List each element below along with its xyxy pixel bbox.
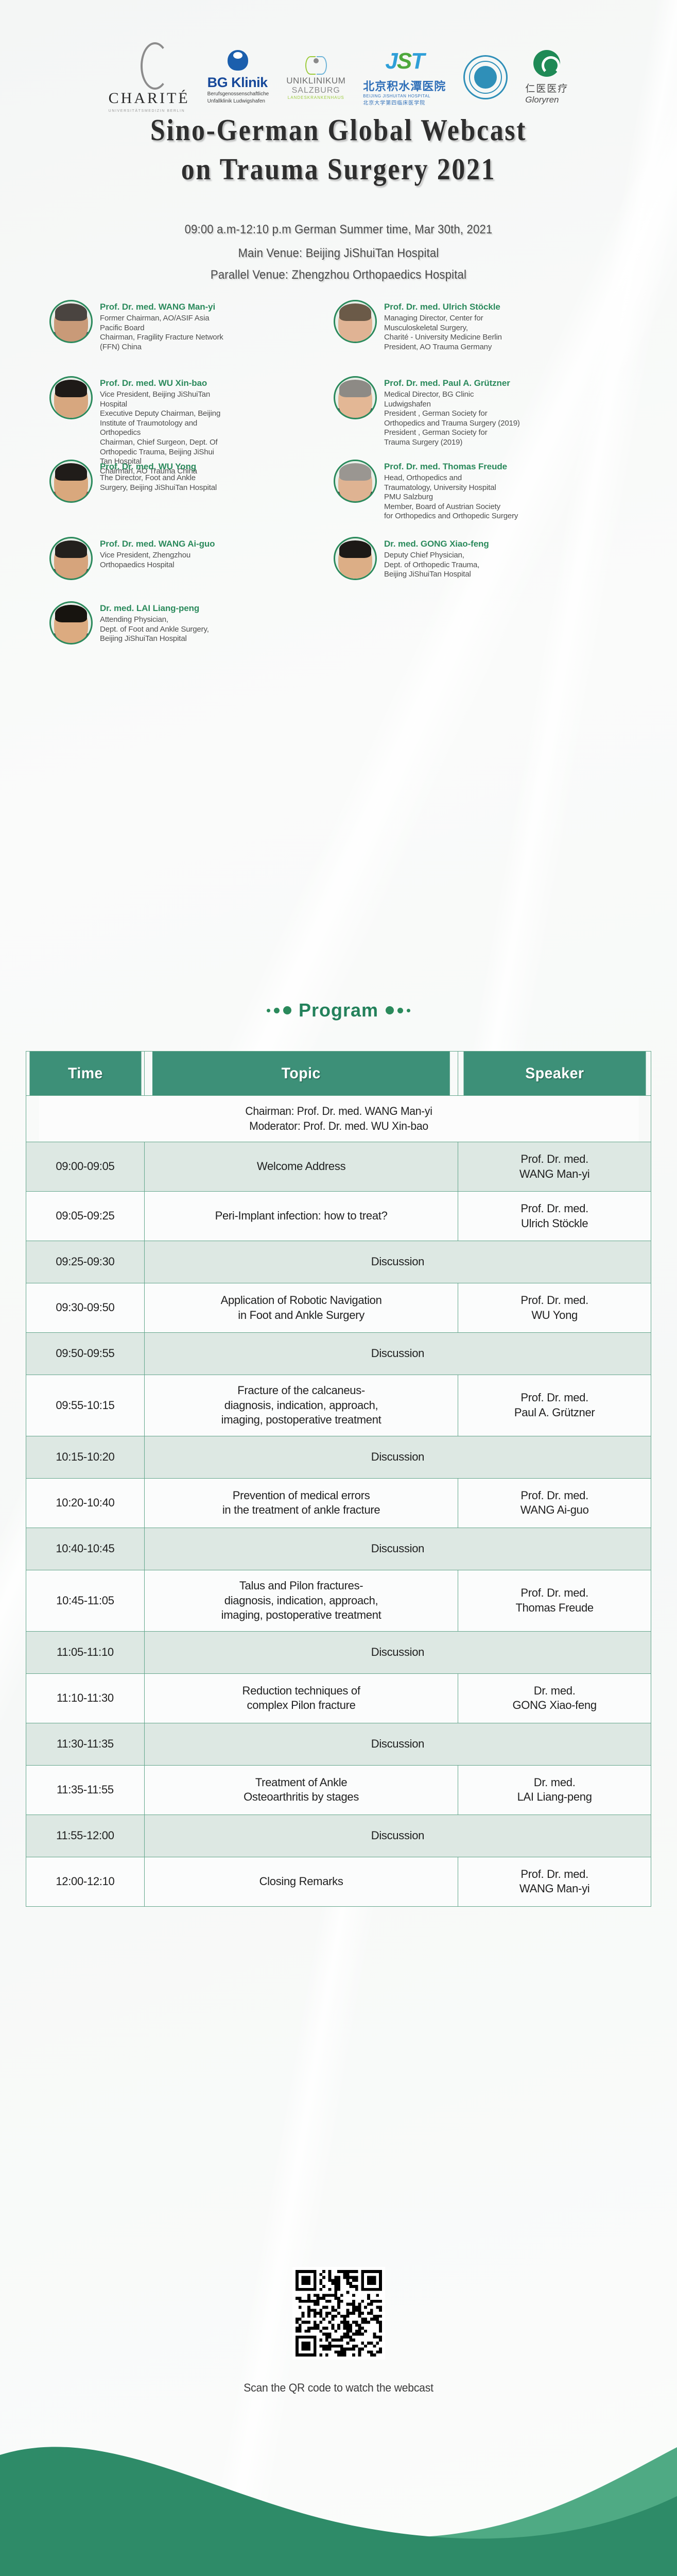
- speaker-affiliation-line: Chairman, Fragility Fracture Network: [100, 333, 223, 343]
- speaker-affiliation-line: for Orthopedics and Orthopedic Surgery: [384, 512, 518, 521]
- speaker-name: Dr. med. GONG Xiao-feng: [384, 539, 489, 549]
- cell-topic: Application of Robotic Navigationin Foot…: [144, 1283, 458, 1333]
- speaker-row: Dr. med. LAI Liang-pengAttending Physici…: [0, 594, 677, 645]
- speaker-info: Dr. med. GONG Xiao-fengDeputy Chief Phys…: [384, 537, 489, 580]
- salzburg-figure-icon: [304, 55, 328, 76]
- cell-speaker: Prof. Dr. med.WANG Man-yi: [458, 1142, 651, 1192]
- speaker-affiliation-line: Pacific Board: [100, 324, 223, 333]
- cell-speaker: Dr. med.GONG Xiao-feng: [458, 1673, 651, 1723]
- charite-logo: CHARITÉ UNIVERSITÄTSMEDIZIN BERLIN: [109, 42, 190, 113]
- speaker-row: Prof. Dr. med. WANG Man-yiFormer Chairma…: [0, 293, 677, 352]
- table-row: 11:55-12:00Discussion: [26, 1815, 651, 1857]
- speaker-affiliation-line: Orthopaedics Hospital: [100, 561, 215, 570]
- speaker-affiliation-line: Head, Orthopedics and: [384, 473, 518, 483]
- title-line-2: on Trauma Surgery 2021: [41, 150, 636, 189]
- speaker-affiliation-line: Hospital: [100, 400, 220, 410]
- column-header-speaker: Speaker: [463, 1052, 646, 1096]
- cell-topic: Discussion: [144, 1723, 651, 1765]
- program-heading-label: Program: [299, 999, 378, 1021]
- table-row: 12:00-12:10Closing RemarksProf. Dr. med.…: [26, 1857, 651, 1906]
- table-row: 10:20-10:40Prevention of medical errorsi…: [26, 1478, 651, 1528]
- speaker-name: Dr. med. LAI Liang-peng: [100, 603, 209, 614]
- chairman-row: Chairman: Prof. Dr. med. WANG Man-yiMode…: [26, 1096, 651, 1142]
- qr-caption: Scan the QR code to watch the webcast: [13, 2381, 663, 2395]
- cell-topic: Peri-Implant infection: how to treat?: [144, 1192, 458, 1241]
- left-dots-icon: [267, 1006, 291, 1014]
- bg-klinik-logo-text: BG Klinik: [207, 75, 269, 91]
- right-dots-icon: [386, 1006, 410, 1014]
- speaker-affiliation-line: Institute of Traumotology and: [100, 419, 220, 429]
- cell-topic: Welcome Address: [144, 1142, 458, 1192]
- speaker-info: Prof. Dr. med. WANG Ai-guoVice President…: [100, 537, 215, 570]
- speaker-card: Prof. Dr. med. Ulrich StöckleManaging Di…: [309, 293, 677, 352]
- speaker-affiliation-line: Medical Director, BG Clinic: [384, 390, 520, 400]
- cell-topic: Prevention of medical errorsin the treat…: [144, 1478, 458, 1528]
- table-row: 11:30-11:35Discussion: [26, 1723, 651, 1765]
- speaker-affiliation-line: Orthopedics: [100, 428, 220, 438]
- speaker-affiliation-line: Chairman, Chief Surgeon, Dept. Of: [100, 438, 220, 448]
- table-header-row: Time Topic Speaker: [26, 1052, 651, 1096]
- speaker-affiliation-line: Charité - University Medicine Berlin: [384, 333, 502, 343]
- cell-time: 09:55-10:15: [26, 1375, 145, 1436]
- speaker-name: Prof. Dr. med. Thomas Freude: [384, 462, 518, 472]
- sponsor-logo-strip: CHARITÉ UNIVERSITÄTSMEDIZIN BERLIN BG Kl…: [0, 46, 677, 108]
- speaker-info: Prof. Dr. med. Paul A. GrütznerMedical D…: [384, 376, 520, 448]
- qr-code[interactable]: [292, 2267, 385, 2360]
- cell-time: 12:00-12:10: [26, 1857, 145, 1906]
- table-row: 10:40-10:45Discussion: [26, 1528, 651, 1570]
- avatar: [334, 300, 377, 343]
- cell-time: 10:40-10:45: [26, 1528, 145, 1570]
- gloryren-logo: 仁医医疗 Gloryren: [525, 50, 568, 105]
- bg-klinik-sub2: Unfallklinik Ludwigshafen: [207, 98, 269, 105]
- cell-speaker: Dr. med.LAI Liang-peng: [458, 1765, 651, 1815]
- jishuitan-en-name: BEIJING JISHUITAN HOSPITAL: [363, 94, 430, 98]
- avatar: [49, 460, 93, 503]
- speaker-info: Prof. Dr. med. WU YongThe Director, Foot…: [100, 460, 217, 493]
- program-table-body: Chairman: Prof. Dr. med. WANG Man-yiMode…: [26, 1096, 651, 1907]
- speaker-affiliation-line: President, AO Trauma Germany: [384, 343, 502, 352]
- charite-logo-text: CHARITÉ: [109, 90, 190, 107]
- speaker-affiliation-line: Managing Director, Center for: [384, 314, 502, 324]
- speaker-affiliation-line: Dept. of Orthopedic Trauma,: [384, 561, 489, 570]
- title-line-1: Sino-German Global Webcast: [41, 111, 636, 150]
- bg-klinik-mark-icon: [228, 50, 248, 71]
- avatar: [334, 376, 377, 419]
- cell-time: 11:05-11:10: [26, 1631, 145, 1673]
- parallel-venue: Parallel Venue: Zhengzhou Orthopaedics H…: [27, 268, 650, 282]
- avatar: [49, 300, 93, 343]
- chairman-moderator-text: Chairman: Prof. Dr. med. WANG Man-yiMode…: [39, 1096, 638, 1142]
- speaker-affiliation-line: Executive Deputy Chairman, Beijing: [100, 409, 220, 419]
- table-row: 09:25-09:30Discussion: [26, 1241, 651, 1283]
- table-row: 09:50-09:55Discussion: [26, 1333, 651, 1375]
- speaker-list: Prof. Dr. med. WANG Man-yiFormer Chairma…: [0, 293, 677, 1004]
- salzburg-logo-text: UNIKLINIKUM: [286, 76, 345, 86]
- cell-topic: Discussion: [144, 1631, 651, 1673]
- event-datetime: 09:00 a.m-12:10 p.m German Summer time, …: [27, 223, 650, 237]
- speaker-card: Prof. Dr. med. WU YongThe Director, Foot…: [0, 452, 309, 521]
- avatar: [49, 537, 93, 580]
- zhengzhou-seal-icon: [474, 66, 497, 89]
- cell-time: 09:50-09:55: [26, 1333, 145, 1375]
- gloryren-swirl-icon: [533, 50, 560, 77]
- speaker-affiliation-line: Ludwigshafen: [384, 400, 520, 410]
- speaker-affiliation-line: The Director, Foot and Ankle: [100, 473, 217, 483]
- cell-topic: Discussion: [144, 1815, 651, 1857]
- cell-speaker: Prof. Dr. med.WANG Ai-guo: [458, 1478, 651, 1528]
- cell-time: 11:30-11:35: [26, 1723, 145, 1765]
- cell-speaker: Prof. Dr. med.Thomas Freude: [458, 1570, 651, 1631]
- column-header-time: Time: [29, 1052, 141, 1096]
- avatar: [334, 460, 377, 503]
- cell-time: 09:30-09:50: [26, 1283, 145, 1333]
- program-table: Time Topic Speaker Chairman: Prof. Dr. m…: [26, 1051, 651, 1907]
- program-heading: Program: [0, 999, 677, 1021]
- column-header-topic: Topic: [152, 1052, 450, 1096]
- cell-time: 09:25-09:30: [26, 1241, 145, 1283]
- table-row: 09:55-10:15Fracture of the calcaneus-dia…: [26, 1375, 651, 1436]
- speaker-card: Prof. Dr. med. WANG Ai-guoVice President…: [0, 530, 309, 580]
- table-row: 09:05-09:25Peri-Implant infection: how t…: [26, 1192, 651, 1241]
- cell-topic: Closing Remarks: [144, 1857, 458, 1906]
- speaker-affiliation-line: Vice President, Zhengzhou: [100, 551, 215, 561]
- cell-topic: Fracture of the calcaneus-diagnosis, ind…: [144, 1375, 458, 1436]
- cell-speaker: Prof. Dr. med.Ulrich Stöckle: [458, 1192, 651, 1241]
- speaker-affiliation-line: Attending Physician,: [100, 615, 209, 625]
- avatar: [49, 376, 93, 419]
- table-row: 11:05-11:10Discussion: [26, 1631, 651, 1673]
- cell-topic: Discussion: [144, 1436, 651, 1478]
- speaker-affiliation-line: PMU Salzburg: [384, 493, 518, 502]
- footer-wave-decoration: [0, 2406, 677, 2576]
- speaker-name: Prof. Dr. med. WANG Ai-guo: [100, 539, 215, 549]
- cell-topic: Discussion: [144, 1528, 651, 1570]
- cell-time: 11:35-11:55: [26, 1765, 145, 1815]
- speaker-affiliation-line: President , German Society for: [384, 409, 520, 419]
- salzburg-logo-text2: SALZBURG: [292, 86, 340, 95]
- speaker-affiliation-line: Trauma Surgery (2019): [384, 438, 520, 448]
- speaker-row: Prof. Dr. med. WU YongThe Director, Foot…: [0, 452, 677, 521]
- speaker-name: Prof. Dr. med. Ulrich Stöckle: [384, 302, 502, 312]
- table-row: 09:00-09:05Welcome AddressProf. Dr. med.…: [26, 1142, 651, 1192]
- cell-time: 10:45-11:05: [26, 1570, 145, 1631]
- bg-klinik-logo: BG Klinik Berufsgenossenschaftliche Unfa…: [207, 50, 269, 105]
- table-row: 10:15-10:20Discussion: [26, 1436, 651, 1478]
- speaker-affiliation-line: Former Chairman, AO/ASIF Asia: [100, 314, 223, 324]
- jishuitan-logo: JST 北京积水潭医院 BEIJING JISHUITAN HOSPITAL 北…: [363, 48, 446, 106]
- table-row: 11:10-11:30Reduction techniques ofcomple…: [26, 1673, 651, 1723]
- speaker-info: Prof. Dr. med. Thomas FreudeHead, Orthop…: [384, 460, 518, 521]
- speaker-card: Dr. med. GONG Xiao-fengDeputy Chief Phys…: [309, 530, 677, 580]
- gloryren-cn-text: 仁医医疗: [525, 81, 568, 95]
- speaker-affiliation-line: President , German Society for: [384, 428, 520, 438]
- cell-speaker: Prof. Dr. med.WU Yong: [458, 1283, 651, 1333]
- speaker-info: Prof. Dr. med. WANG Man-yiFormer Chairma…: [100, 300, 223, 352]
- conference-poster: CHARITÉ UNIVERSITÄTSMEDIZIN BERLIN BG Kl…: [0, 0, 677, 2576]
- cell-topic: Talus and Pilon fractures-diagnosis, ind…: [144, 1570, 458, 1631]
- speaker-name: Prof. Dr. med. WU Yong: [100, 462, 217, 472]
- jishuitan-cn-sub: 北京大学第四临床医学院: [363, 98, 425, 106]
- speaker-affiliation-line: Vice President, Beijing JiShuiTan: [100, 390, 220, 400]
- jst-glyph-icon: JST: [385, 48, 424, 74]
- speaker-affiliation-line: Beijing JiShuiTan Hospital: [384, 570, 489, 580]
- cell-time: 09:00-09:05: [26, 1142, 145, 1192]
- table-row: 10:45-11:05Talus and Pilon fractures-dia…: [26, 1570, 651, 1631]
- speaker-card: Prof. Dr. med. WANG Man-yiFormer Chairma…: [0, 293, 309, 352]
- cell-time: 11:55-12:00: [26, 1815, 145, 1857]
- uniklinikum-salzburg-logo: UNIKLINIKUM SALZBURG LANDESKRANKENHAUS: [286, 55, 345, 100]
- table-row: 09:30-09:50Application of Robotic Naviga…: [26, 1283, 651, 1333]
- speaker-info: Dr. med. LAI Liang-pengAttending Physici…: [100, 601, 209, 644]
- table-row: 11:35-11:55Treatment of AnkleOsteoarthri…: [26, 1765, 651, 1815]
- avatar: [334, 537, 377, 580]
- cell-time: 10:15-10:20: [26, 1436, 145, 1478]
- speaker-card: Prof. Dr. med. Thomas FreudeHead, Orthop…: [309, 452, 677, 521]
- cell-topic: Treatment of AnkleOsteoarthritis by stag…: [144, 1765, 458, 1815]
- speaker-affiliation-line: Beijing JiShuiTan Hospital: [100, 634, 209, 644]
- speaker-affiliation-line: (FFN) China: [100, 343, 223, 352]
- speaker-affiliation-line: Member, Board of Austrian Society: [384, 502, 518, 512]
- jishuitan-cn-name: 北京积水潭医院: [363, 77, 446, 94]
- speaker-name: Prof. Dr. med. WU Xin-bao: [100, 378, 220, 388]
- cell-speaker: Prof. Dr. med.Paul A. Grützner: [458, 1375, 651, 1436]
- speaker-name: Prof. Dr. med. Paul A. Grützner: [384, 378, 520, 388]
- speaker-affiliation-line: Orthopedics and Trauma Surgery (2019): [384, 419, 520, 429]
- speaker-card: Dr. med. LAI Liang-pengAttending Physici…: [0, 594, 309, 645]
- speaker-row: Prof. Dr. med. WANG Ai-guoVice President…: [0, 530, 677, 580]
- speaker-affiliation-line: Musculoskeletal Surgery,: [384, 324, 502, 333]
- cell-speaker: Prof. Dr. med.WANG Man-yi: [458, 1857, 651, 1906]
- qr-section: Scan the QR code to watch the webcast: [0, 2267, 677, 2395]
- cell-topic: Discussion: [144, 1333, 651, 1375]
- speaker-info: Prof. Dr. med. Ulrich StöckleManaging Di…: [384, 300, 502, 352]
- gloryren-en-text: Gloryren: [525, 95, 568, 105]
- speaker-name: Prof. Dr. med. WANG Man-yi: [100, 302, 223, 312]
- bg-klinik-sub1: Berufsgenossenschaftliche: [207, 91, 269, 98]
- speaker-affiliation-line: Dept. of Foot and Ankle Surgery,: [100, 625, 209, 635]
- cell-topic: Reduction techniques ofcomplex Pilon fra…: [144, 1673, 458, 1723]
- cell-time: 10:20-10:40: [26, 1478, 145, 1528]
- speaker-affiliation-line: Surgery, Beijing JiShuiTan Hospital: [100, 483, 217, 493]
- page-title: Sino-German Global Webcast on Trauma Sur…: [0, 111, 677, 189]
- speaker-affiliation-line: Traumatology, University Hospital: [384, 483, 518, 493]
- cell-time: 11:10-11:30: [26, 1673, 145, 1723]
- zhengzhou-orthopaedics-logo: [463, 55, 508, 99]
- charite-arc-icon: [141, 42, 169, 90]
- qr-code-icon: [296, 2270, 382, 2357]
- cell-time: 09:05-09:25: [26, 1192, 145, 1241]
- cell-topic: Discussion: [144, 1241, 651, 1283]
- speaker-affiliation-line: Deputy Chief Physician,: [384, 551, 489, 561]
- main-venue: Main Venue: Beijing JiShuiTan Hospital: [27, 246, 650, 261]
- avatar: [49, 601, 93, 645]
- salzburg-logo-text3: LANDESKRANKENHAUS: [288, 95, 344, 100]
